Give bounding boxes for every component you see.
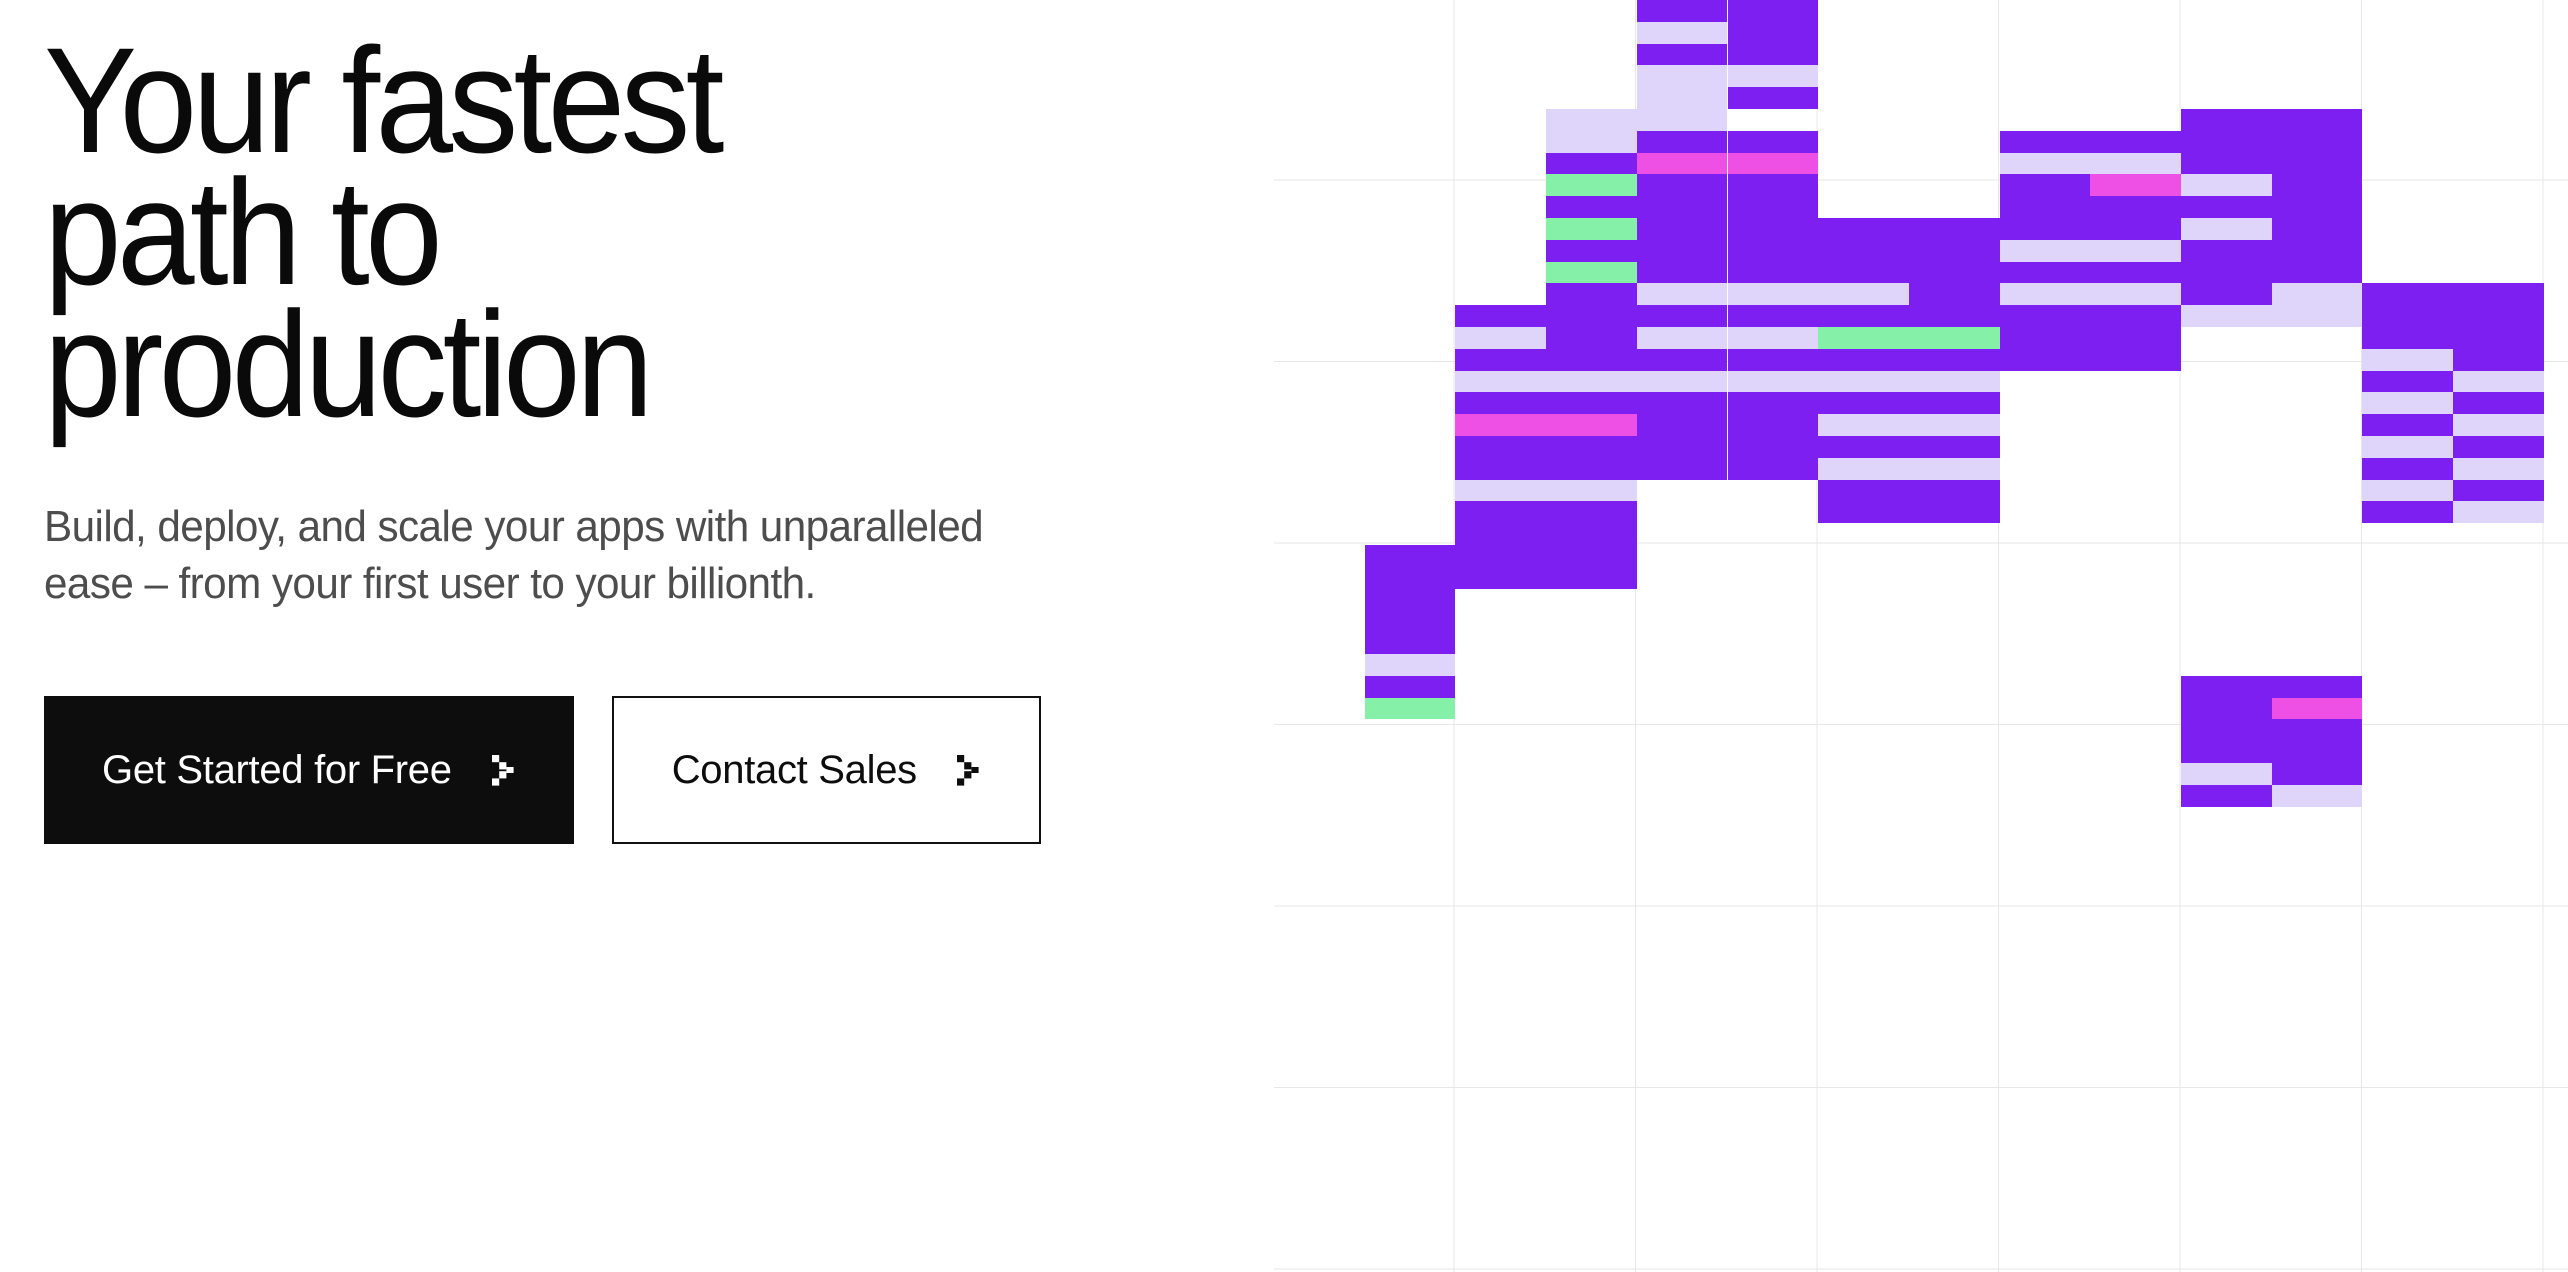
mosaic-block (2362, 371, 2453, 393)
mosaic-block (1728, 196, 1819, 218)
mosaic-block (2362, 458, 2453, 480)
contact-sales-button[interactable]: Contact Sales (612, 696, 1041, 844)
mosaic-block (2453, 392, 2544, 414)
mosaic-block (2000, 305, 2091, 370)
cta-button-row: Get Started for Free Contact Sales (44, 696, 1224, 844)
mosaic-block (1546, 131, 1637, 153)
mosaic-block (1909, 414, 2000, 436)
mosaic-block (2453, 283, 2544, 348)
mosaic-block (2181, 676, 2272, 763)
mosaic-block (1909, 436, 2000, 458)
pixel-chevron-right-icon (486, 752, 516, 788)
mosaic-block (2090, 131, 2181, 153)
mosaic-block (1909, 349, 2000, 371)
mosaic-block (1909, 327, 2000, 349)
mosaic-block (1728, 0, 1819, 109)
mosaic-block (2272, 698, 2363, 720)
mosaic-block (1546, 218, 1637, 240)
mosaic-block (1728, 218, 1819, 240)
mosaic-block (2090, 153, 2181, 175)
mosaic-block (2362, 480, 2453, 502)
hero-section: Your fastest path to production Build, d… (44, 0, 1224, 1272)
mosaic-block (1637, 392, 1728, 479)
mosaic-block (1546, 174, 1637, 196)
mosaic-block (1818, 392, 1909, 414)
mosaic-block (1637, 131, 1728, 153)
mosaic-block (1818, 218, 1909, 240)
mosaic-block (1818, 305, 1909, 327)
mosaic-block (2453, 349, 2544, 371)
mosaic-block (1909, 218, 2000, 240)
mosaic-block (1637, 283, 1728, 305)
mosaic-block (1637, 218, 1728, 240)
mosaic-block (2000, 240, 2091, 262)
mosaic-block (1455, 436, 1546, 480)
mosaic-block (1909, 458, 2000, 480)
mosaic-block (2453, 414, 2544, 436)
pixel-chevron-right-icon (951, 752, 981, 788)
mosaic-block (1728, 283, 1819, 305)
mosaic-block (2272, 785, 2363, 807)
mosaic-block (2090, 196, 2181, 240)
mosaic-block (1637, 240, 1728, 262)
mosaic-block (2181, 240, 2272, 305)
mosaic-block (1818, 414, 1909, 436)
mosaic-block (2272, 676, 2363, 763)
mosaic-block (2090, 262, 2181, 284)
get-started-for-free-button[interactable]: Get Started for Free (44, 696, 574, 844)
mosaic-pixel-blocks (1274, 0, 2568, 1272)
mosaic-block (2181, 174, 2272, 196)
mosaic-block (1546, 196, 1637, 218)
mosaic-block (1637, 262, 1728, 284)
mosaic-block (1818, 327, 1909, 349)
mosaic-block (2181, 218, 2272, 240)
hero-subheadline: Build, deploy, and scale your apps with … (44, 498, 1138, 612)
mosaic-block (2000, 283, 2091, 305)
mosaic-block (1909, 283, 2000, 305)
mosaic-block (1818, 240, 1909, 284)
page-title: Your fastest path to production (44, 34, 1141, 430)
mosaic-block (2181, 109, 2272, 174)
mosaic-block (1637, 305, 1728, 327)
mosaic-block (2272, 196, 2363, 218)
mosaic-block (1728, 305, 1819, 327)
mosaic-block (2453, 501, 2544, 523)
mosaic-block (1455, 501, 1546, 588)
mosaic-block (1546, 109, 1637, 131)
mosaic-block (2362, 436, 2453, 458)
mosaic-block (2272, 240, 2363, 284)
mosaic-block (1637, 174, 1728, 196)
mosaic-block (1728, 371, 1819, 393)
mosaic-block (1455, 480, 1546, 502)
hero-page: Your fastest path to production Build, d… (0, 0, 2568, 1272)
mosaic-block (1546, 153, 1637, 175)
mosaic-block (2453, 436, 2544, 458)
mosaic-block (2090, 240, 2181, 262)
mosaic-block (1546, 392, 1637, 414)
mosaic-block (1365, 654, 1456, 676)
mosaic-block (1637, 371, 1728, 393)
pixel-mosaic-graphic (1274, 0, 2568, 1272)
mosaic-block (2453, 458, 2544, 480)
mosaic-block (2181, 305, 2272, 327)
mosaic-block (2272, 305, 2363, 327)
mosaic-block (2090, 283, 2181, 305)
mosaic-block (1637, 22, 1728, 44)
mosaic-block (1728, 174, 1819, 196)
mosaic-block (1546, 262, 1637, 284)
mosaic-block (1818, 480, 1909, 524)
mosaic-block (1365, 545, 1456, 654)
mosaic-block (2453, 480, 2544, 502)
mosaic-block (1818, 371, 1909, 393)
mosaic-block (2181, 196, 2272, 218)
mosaic-block (1637, 196, 1728, 218)
mosaic-block (1818, 436, 1909, 458)
mosaic-block (1818, 458, 1909, 480)
mosaic-block (1909, 305, 2000, 327)
mosaic-block (1546, 501, 1637, 588)
mosaic-block (2272, 218, 2363, 240)
mosaic-block (1728, 153, 1819, 175)
mosaic-block (2272, 283, 2363, 305)
mosaic-block (1637, 153, 1728, 175)
contact-sales-button-label: Contact Sales (672, 748, 917, 793)
mosaic-block (1637, 327, 1728, 349)
mosaic-block (2362, 283, 2453, 348)
mosaic-block (1365, 676, 1456, 698)
mosaic-block (1728, 240, 1819, 262)
mosaic-block (1728, 131, 1819, 153)
mosaic-block (2362, 414, 2453, 436)
mosaic-block (1818, 349, 1909, 371)
mosaic-block (1909, 480, 2000, 524)
mosaic-block (2000, 153, 2091, 175)
mosaic-block (1637, 349, 1728, 371)
mosaic-block (2181, 785, 2272, 807)
mosaic-block (1546, 436, 1637, 480)
mosaic-block (1909, 371, 2000, 393)
mosaic-block (1909, 240, 2000, 284)
mosaic-block (1455, 371, 1546, 393)
mosaic-block (1546, 480, 1637, 502)
mosaic-block (2362, 392, 2453, 414)
mosaic-block (1728, 392, 1819, 479)
mosaic-block (1728, 327, 1819, 349)
mosaic-block (1637, 87, 1728, 109)
mosaic-block (1728, 349, 1819, 371)
mosaic-block (1728, 262, 1819, 284)
mosaic-block (2000, 131, 2091, 153)
get-started-button-label: Get Started for Free (102, 748, 452, 793)
mosaic-block (1818, 283, 1909, 305)
mosaic-block (1909, 392, 2000, 414)
mosaic-block (1546, 240, 1637, 262)
mosaic-block (2272, 109, 2363, 174)
mosaic-block (1546, 414, 1637, 436)
mosaic-block (2000, 196, 2091, 240)
mosaic-block (1365, 698, 1456, 720)
mosaic-block (1637, 65, 1728, 87)
mosaic-block (2000, 174, 2091, 196)
mosaic-block (2090, 174, 2181, 196)
mosaic-block (2000, 262, 2091, 284)
mosaic-block (2181, 763, 2272, 785)
mosaic-block (2362, 501, 2453, 523)
mosaic-block (2362, 349, 2453, 371)
mosaic-block (1455, 392, 1546, 414)
mosaic-block (1455, 327, 1546, 349)
mosaic-block (1546, 283, 1637, 305)
mosaic-block (1546, 371, 1637, 393)
mosaic-block (1637, 109, 1728, 131)
mosaic-block (1728, 65, 1819, 87)
mosaic-block (1455, 414, 1546, 436)
mosaic-block (1546, 305, 1637, 370)
mosaic-block (2453, 371, 2544, 393)
mosaic-block (2090, 305, 2181, 370)
mosaic-block (2272, 174, 2363, 196)
mosaic-block (2272, 763, 2363, 785)
